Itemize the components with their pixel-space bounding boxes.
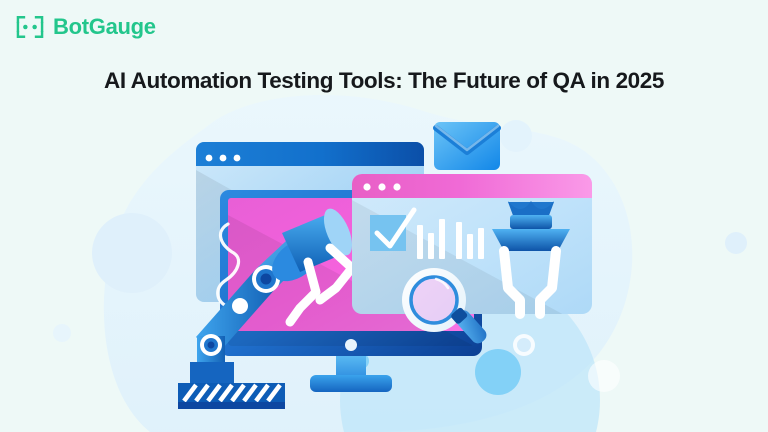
pink-browser-window <box>352 174 592 330</box>
hero-illustration <box>0 0 768 432</box>
envelope-icon <box>434 122 500 170</box>
window-dots <box>206 155 241 162</box>
brand-logo[interactable]: BotGauge <box>15 14 156 40</box>
page-title: AI Automation Testing Tools: The Future … <box>84 66 684 96</box>
bot-face-icon <box>15 14 45 40</box>
window-dots <box>363 183 400 190</box>
page-root: BotGauge AI Automation Testing Tools: Th… <box>0 0 768 432</box>
robot-base-platform <box>178 383 285 409</box>
brand-name: BotGauge <box>53 16 156 38</box>
